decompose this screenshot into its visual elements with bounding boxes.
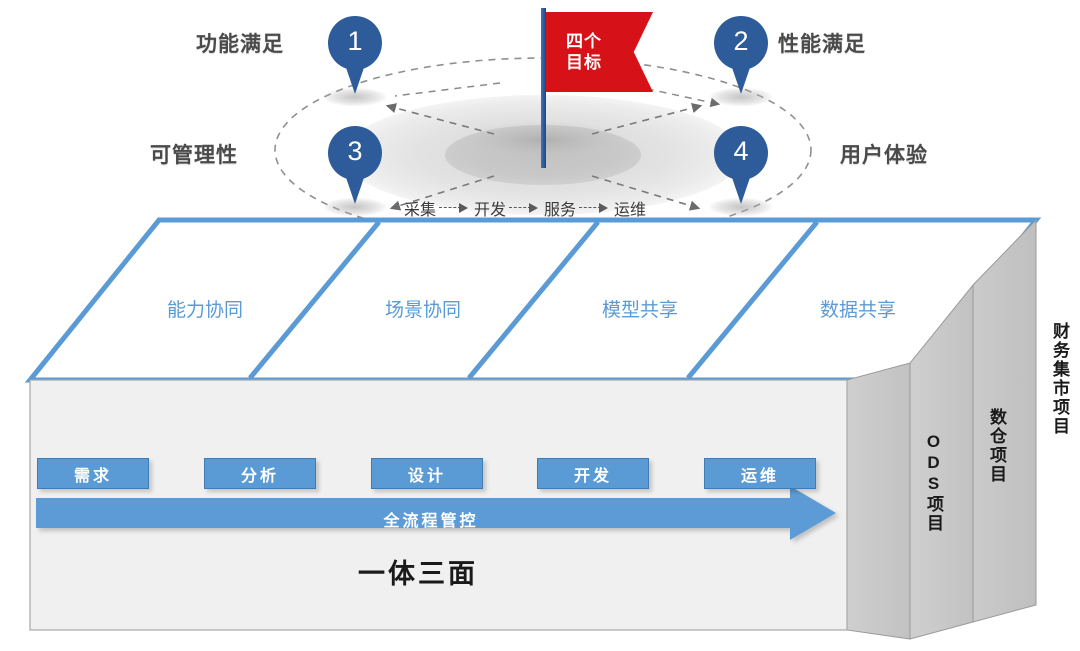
pin-number: 1	[328, 16, 382, 66]
process-arrow-icon	[509, 202, 541, 214]
block-title: 一体三面	[0, 552, 836, 591]
pin-number: 3	[328, 126, 382, 176]
goal-label-2: 性能满足	[778, 28, 866, 58]
goal-pin-3[interactable]: 3	[328, 126, 382, 204]
goal-label-1: 功能满足	[196, 28, 284, 58]
diagram-canvas: 1 2 3 4 功能满足 性能满足 可管理性 用户体验 四个 目标 采集 开	[0, 0, 1080, 651]
stage-button-analysis[interactable]: 分析	[204, 458, 316, 489]
stage-button-requirement[interactable]: 需求	[37, 458, 149, 489]
pin-number: 4	[714, 126, 768, 176]
side-panel-label-dw: 数仓项目	[984, 408, 1009, 484]
top-cell-label-4: 数据共享	[820, 295, 896, 322]
process-chain: 采集 开发 服务 运维	[404, 196, 646, 220]
side-panel-label-ods: ODS项目	[921, 432, 946, 533]
stage-button-develop[interactable]: 开发	[537, 458, 649, 489]
flag-label-line2: 目标	[566, 52, 602, 73]
pin-number: 2	[714, 16, 768, 66]
process-step-collect: 采集	[404, 196, 436, 220]
flag-label-line1: 四个	[566, 31, 602, 52]
goal-pin-4[interactable]: 4	[714, 126, 768, 204]
goal-pin-2[interactable]: 2	[714, 16, 768, 94]
process-step-service: 服务	[544, 196, 576, 220]
goal-label-3: 可管理性	[150, 139, 238, 169]
top-cell-label-1: 能力协同	[167, 295, 243, 322]
flag-label: 四个 目标	[546, 31, 602, 73]
stage-button-design[interactable]: 设计	[371, 458, 483, 489]
flag-pole	[541, 8, 546, 168]
process-arrow-icon	[439, 202, 471, 214]
stage-button-ops[interactable]: 运维	[704, 458, 816, 489]
process-step-develop: 开发	[474, 196, 506, 220]
goal-label-4: 用户体验	[840, 139, 928, 169]
top-cell-label-2: 场景协同	[385, 295, 461, 322]
process-arrow-icon	[579, 202, 611, 214]
process-step-ops: 运维	[614, 196, 646, 220]
top-cell-label-3: 模型共享	[602, 295, 678, 322]
goal-pin-1[interactable]: 1	[328, 16, 382, 94]
side-panel-label-finance: 财务集市项目	[1047, 322, 1072, 436]
